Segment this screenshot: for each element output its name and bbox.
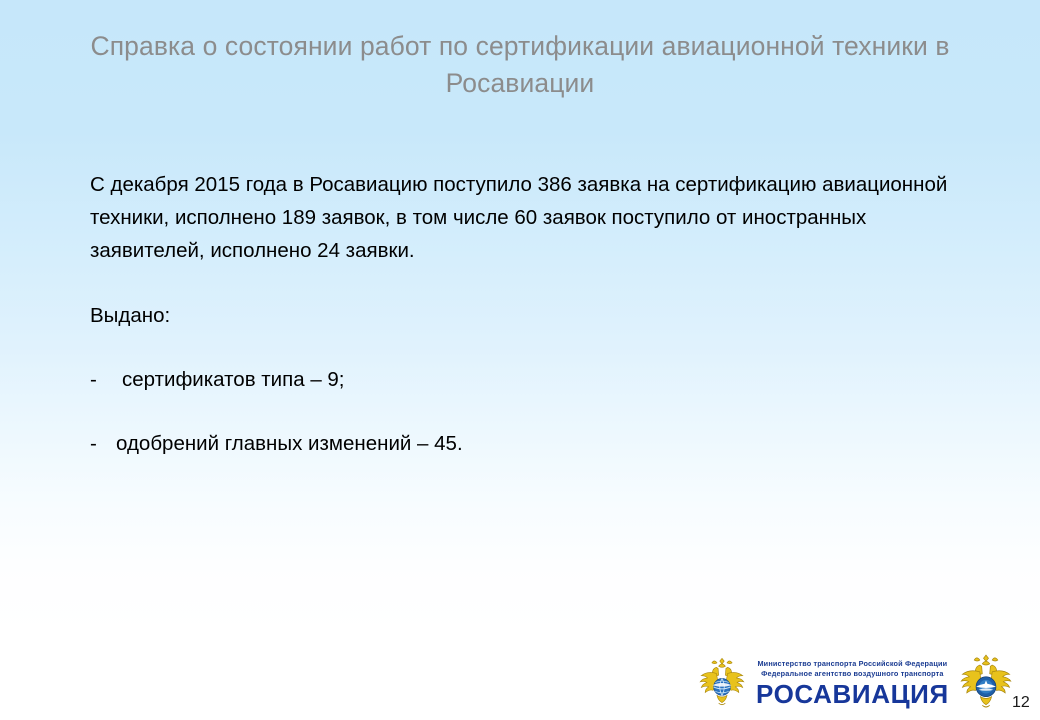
- list-item: - сертификатов типа – 9;: [90, 363, 960, 396]
- page-title: Справка о состоянии работ по сертификаци…: [70, 28, 970, 102]
- list-lead-in-label: Выдано:: [90, 299, 960, 332]
- rosaviatsia-wordmark: РОСАВИАЦИЯ: [756, 680, 949, 708]
- ministry-line-1: Министерство транспорта Российской Федер…: [757, 659, 947, 669]
- list-spacer-middle: [90, 396, 960, 427]
- slide-canvas: Справка о состоянии работ по сертификаци…: [0, 0, 1040, 720]
- list-spacer-top: [90, 332, 960, 363]
- page-number: 12: [1012, 694, 1030, 712]
- rosaviatsia-logo: Министерство транспорта Российской Федер…: [694, 650, 994, 716]
- list-item: - одобрений главных изменений – 45.: [90, 427, 960, 460]
- list-item-label: одобрений главных изменений – 45.: [116, 427, 463, 460]
- russian-coat-of-arms-eagle-icon: [694, 655, 750, 711]
- body-paragraph: С декабря 2015 года в Росавиацию поступи…: [90, 168, 960, 267]
- slide-body: С декабря 2015 года в Росавиацию поступи…: [90, 168, 960, 460]
- rosaviatsia-agency-eagle-icon: [955, 652, 1017, 714]
- ministry-line-2: Федеральное агентство воздушного транспо…: [761, 669, 944, 679]
- logo-text-block: Министерство транспорта Российской Федер…: [750, 659, 955, 708]
- bullet-dash-icon: -: [90, 427, 104, 460]
- bullet-dash-icon: -: [90, 363, 104, 396]
- paragraph-spacer: [90, 267, 960, 299]
- list-item-label: сертификатов типа – 9;: [122, 363, 345, 396]
